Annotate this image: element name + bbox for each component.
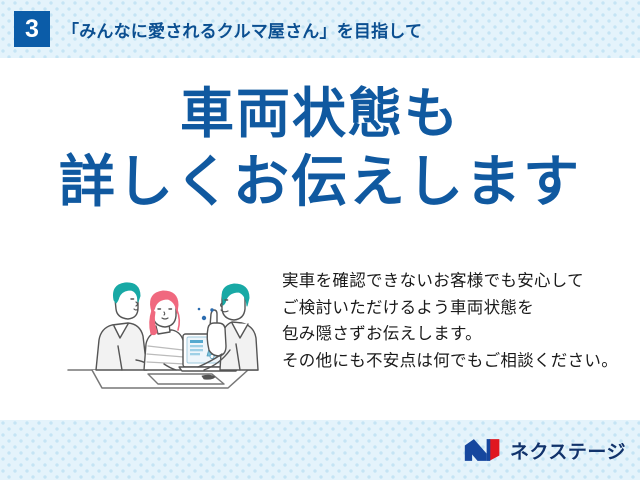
- body-copy-line-3: 包み隠さずお伝えします。: [282, 321, 618, 348]
- lower-content: 実車を確認できないお客様でも安心して ご検討いただけるよう車両状態を 包み隠さず…: [0, 266, 640, 416]
- body-copy-line-4: その他にも不安点は何でもご相談ください。: [282, 348, 618, 375]
- customer-consultation-illustration: [52, 266, 272, 396]
- promo-slide: 3 「みんなに愛されるクルマ屋さん」を目指して 車両状態も 詳しくお伝えします: [0, 0, 640, 480]
- headline-line-2: 詳しくお伝えします: [0, 148, 640, 216]
- step-number-badge: 3: [14, 11, 50, 47]
- footer: ネクステージ: [0, 420, 640, 480]
- headline-line-1: 車両状態も: [0, 82, 640, 148]
- body-copy-line-2: ご検討いただけるよう車両状態を: [282, 295, 618, 322]
- brand-lockup: ネクステージ: [463, 437, 626, 464]
- brand-name: ネクステージ: [510, 437, 626, 464]
- headline: 車両状態も 詳しくお伝えします: [0, 82, 640, 216]
- nextage-n-logo-icon: [463, 437, 503, 463]
- body-copy: 実車を確認できないお客様でも安心して ご検討いただけるよう車両状態を 包み隠さず…: [282, 268, 618, 375]
- header-title: 「みんなに愛されるクルマ屋さん」を目指して: [62, 17, 422, 42]
- body-copy-line-1: 実車を確認できないお客様でも安心して: [282, 268, 618, 295]
- content-stage: 車両状態も 詳しくお伝えします: [0, 58, 640, 420]
- header: 3 「みんなに愛されるクルマ屋さん」を目指して: [0, 0, 640, 58]
